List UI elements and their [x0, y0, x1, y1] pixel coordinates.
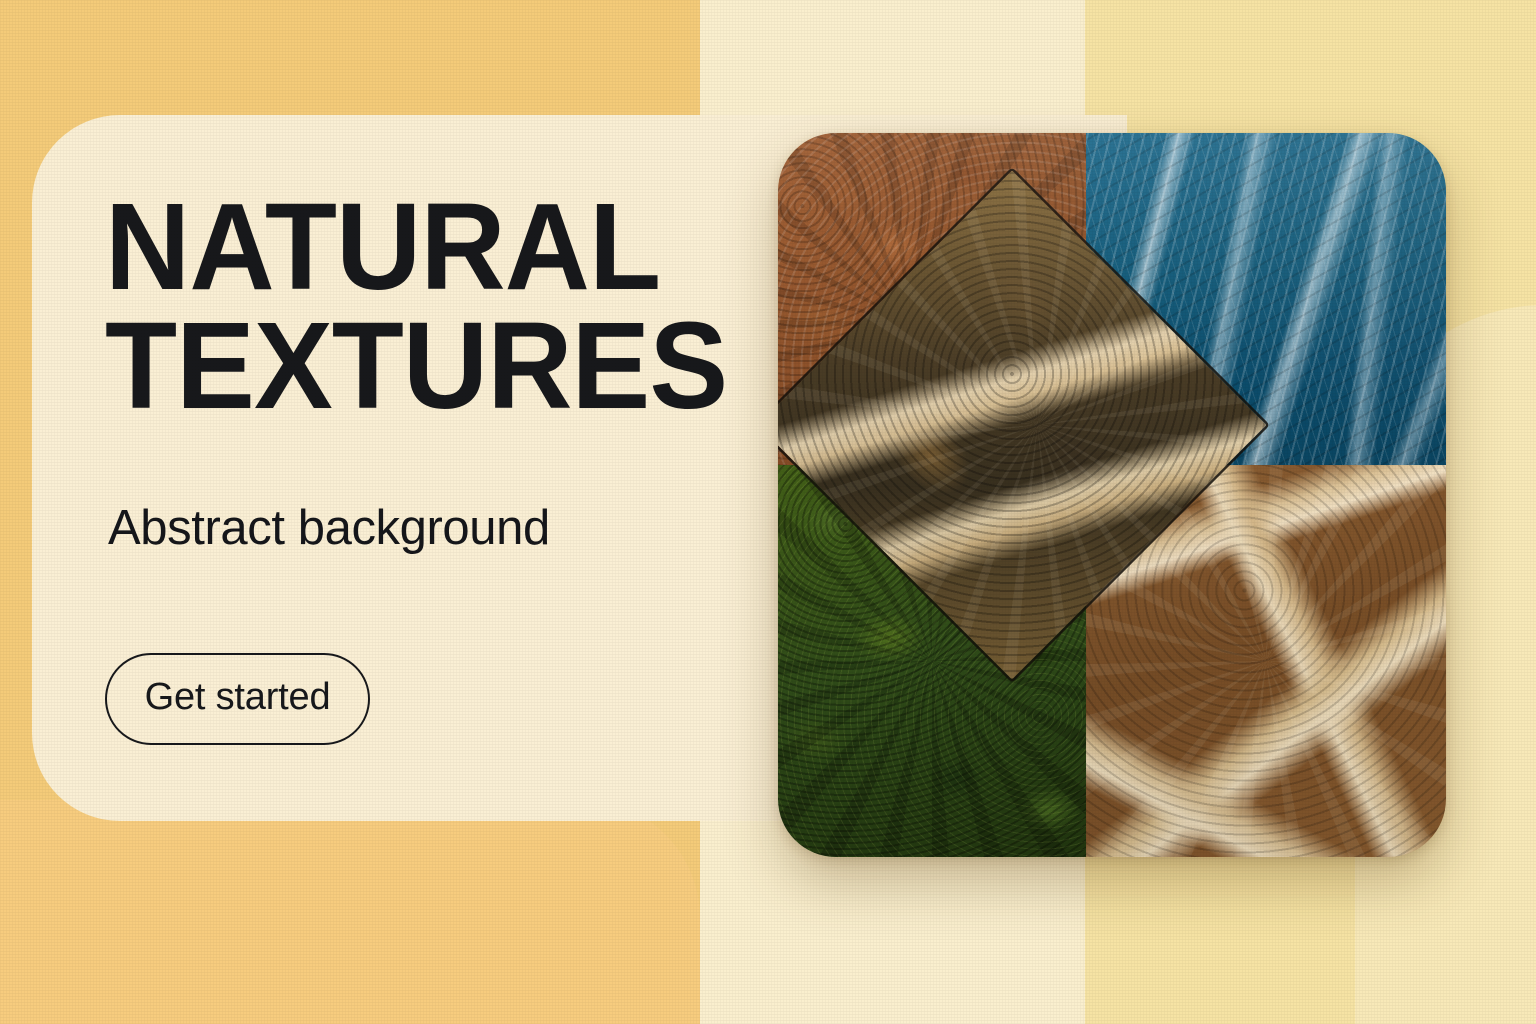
natural-textures-collage	[778, 133, 1446, 857]
background-orange-bottom-left	[0, 800, 700, 1024]
page-subtitle: Abstract background	[108, 500, 550, 556]
poster-canvas: NATURAL TEXTURES Abstract background Get…	[0, 0, 1536, 1024]
get-started-button[interactable]: Get started	[105, 653, 370, 745]
page-title: NATURAL TEXTURES	[105, 188, 727, 427]
